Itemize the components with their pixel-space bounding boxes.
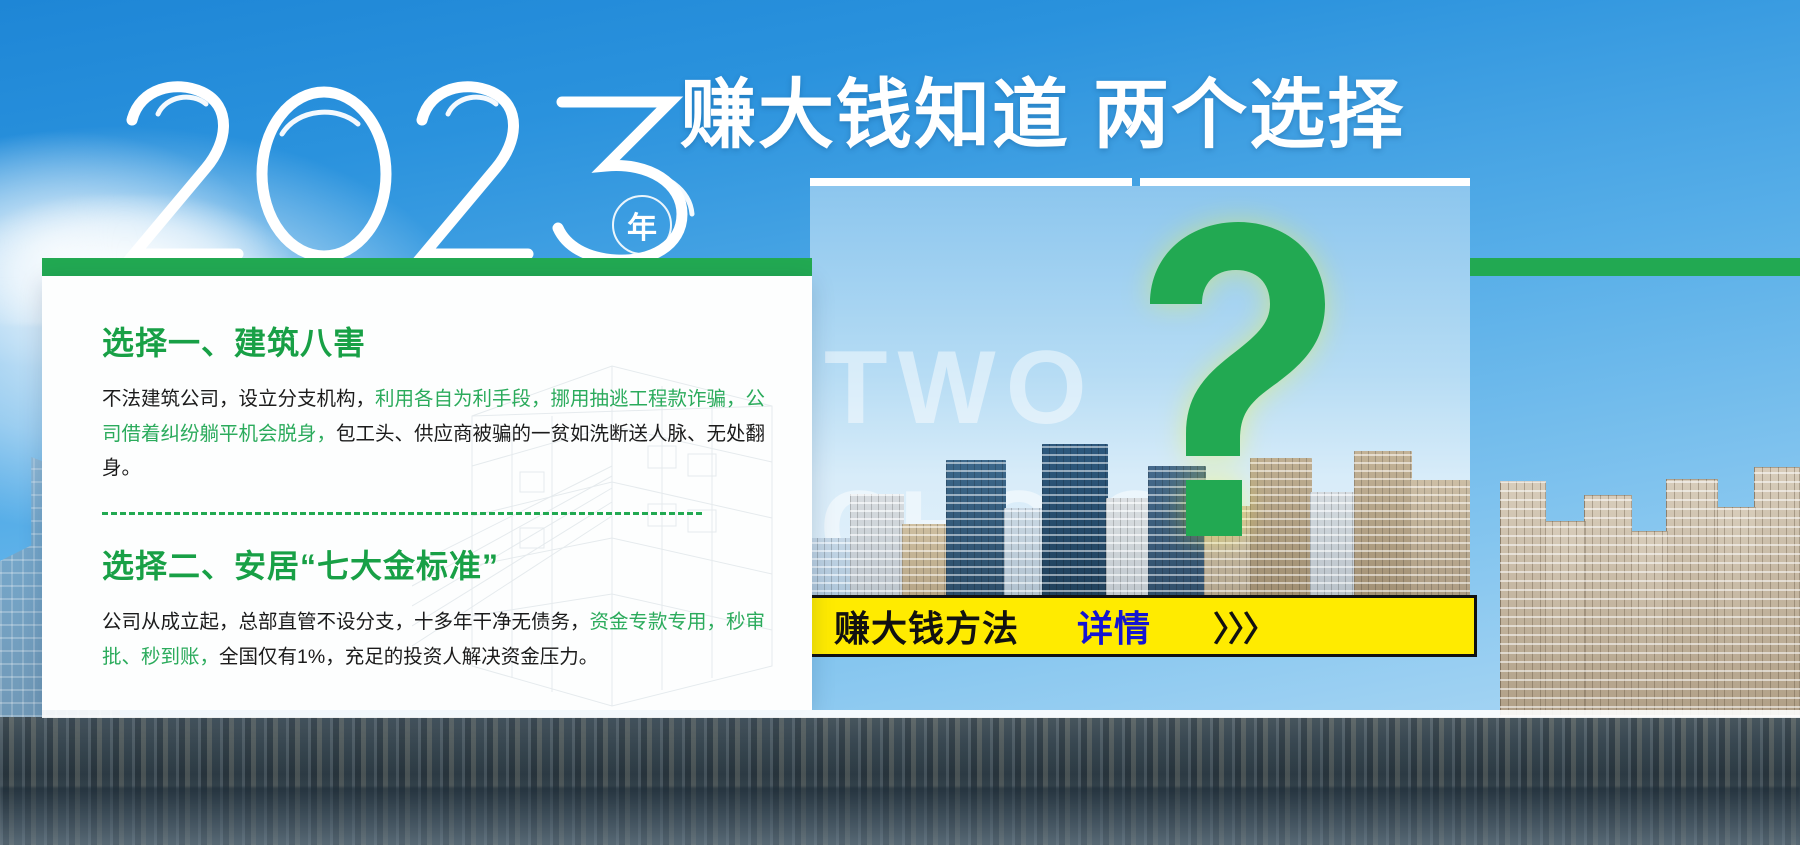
section-2-body: 公司从成立起，总部直管不设分支，十多年干净无债务，资金专款专用，秒审批、秒到账，…: [102, 605, 784, 674]
headline-underbar-right: [1140, 178, 1470, 186]
question-mark-icon: [1110, 212, 1340, 552]
cta-label-details[interactable]: 详情: [1077, 600, 1151, 652]
card-top-green-bar: [42, 258, 812, 276]
cta-label-method: 赚大钱方法: [834, 600, 1019, 652]
watermark-two: TWO: [824, 336, 1097, 440]
section-2-heading: 选择二、安居“七大金标准”: [102, 541, 784, 587]
headline-underbar-left: [810, 178, 1132, 186]
section-2-part-1: 公司从成立起，总部直管不设分支，十多年干净无债务，: [102, 611, 590, 633]
chevron-right-icon: 〉〉〉: [1213, 602, 1275, 651]
bottom-waterfront-strip: [0, 717, 1800, 845]
card-bottom-band: [42, 710, 1800, 718]
content-card: 选择一、建筑八害 不法建筑公司，设立分支机构，利用各自为利手段，挪用抽逃工程款诈…: [42, 276, 812, 710]
right-building-cluster: [1500, 427, 1800, 717]
year-suffix-badge: 年: [612, 195, 672, 255]
cta-bar[interactable]: 赚大钱方法 详情 〉〉〉: [805, 595, 1477, 657]
green-accent-bar-right: [1448, 258, 1800, 276]
right-photo-panel: TWO CHOICES: [810, 186, 1470, 656]
section-2-part-3: 全国仅有1%，充足的投资人解决资金压力。: [219, 646, 598, 668]
section-divider: [102, 512, 702, 515]
section-1-heading: 选择一、建筑八害: [102, 318, 784, 364]
poster-root: 年 赚大钱知道 两个选择 TWO CHOICES: [0, 0, 1800, 845]
page-title: 赚大钱知道 两个选择: [680, 78, 1405, 154]
section-1-part-1: 不法建筑公司，设立分支机构，: [102, 388, 375, 410]
section-1-body: 不法建筑公司，设立分支机构，利用各自为利手段，挪用抽逃工程款诈骗，公司借着纠纷躺…: [102, 382, 784, 486]
